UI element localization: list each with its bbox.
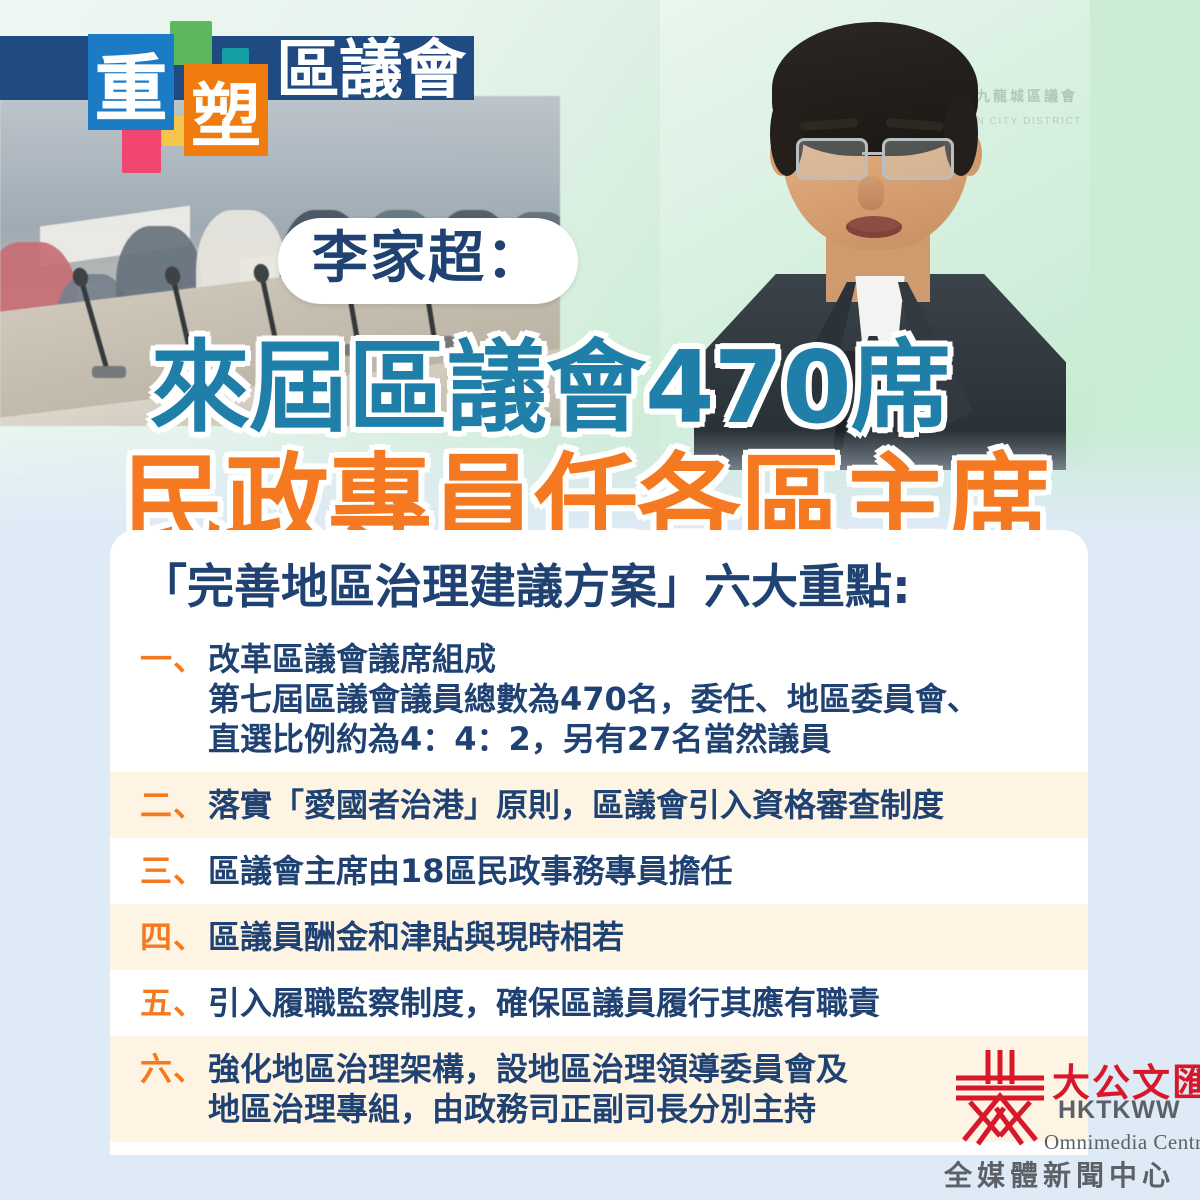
key-point-text: 區議會主席由18區民政事務專員擔任 [208, 851, 733, 891]
key-point-line: 區議會主席由18區民政事務專員擔任 [208, 851, 733, 891]
key-point-text: 落實「愛國者治港」原則，區議會引入資格審查制度 [208, 785, 944, 825]
key-point-line: 強化地區治理架構，設地區治理領導委員會及 [208, 1049, 848, 1089]
key-point-line: 第七屆區議會議員總數為470名，委任、地區委員會、 [208, 679, 979, 719]
key-point-number: 六、 [140, 1049, 206, 1089]
key-point-text: 改革區議會議席組成第七屆區議會議員總數為470名，委任、地區委員會、直選比例約為… [208, 639, 979, 759]
panel-subtitle: 「完善地區治理建議方案」六大重點: [140, 548, 911, 617]
venue-name-cn: 九龍城區議會 [976, 86, 1078, 106]
key-point-row: 三、區議會主席由18區民政事務專員擔任 [110, 838, 1088, 904]
key-point-line: 落實「愛國者治港」原則，區議會引入資格審查制度 [208, 785, 944, 825]
banner-word-su: 塑 [184, 64, 268, 156]
key-point-number: 二、 [140, 785, 206, 825]
key-point-number: 五、 [140, 983, 206, 1023]
logo-english-name: Omnimedia Centre [1044, 1130, 1200, 1155]
key-point-line: 地區治理專組，由政務司正副司長分別主持 [208, 1089, 848, 1129]
key-point-row: 四、區議員酬金和津貼與現時相若 [110, 904, 1088, 970]
publisher-logo: 大公文匯 HKTKWW Omnimedia Centre 全媒體新聞中心 [940, 1038, 1190, 1188]
key-point-row: 二、落實「愛國者治港」原則，區議會引入資格審查制度 [110, 772, 1088, 838]
key-point-number: 一、 [140, 639, 206, 679]
key-point-row: 一、改革區議會議席組成第七屆區議會議員總數為470名，委任、地區委員會、直選比例… [110, 626, 1088, 772]
key-point-number: 三、 [140, 851, 206, 891]
banner-word-chong: 重 [88, 34, 174, 130]
key-point-row: 五、引入履職監察制度，確保區議員履行其應有職責 [110, 970, 1088, 1036]
key-point-line: 直選比例約為4：4：2，另有27名當然議員 [208, 719, 979, 759]
accent-square-green [170, 21, 212, 65]
banner-word-rest: 區議會 [276, 42, 465, 100]
key-point-number: 四、 [140, 917, 206, 957]
hktkww-emblem-icon [948, 1044, 1052, 1148]
key-point-line: 引入履職監察制度，確保區議員履行其應有職責 [208, 983, 880, 1023]
infographic-poster: 九龍城區議會 KOWLOON CITY DISTRICT 重 塑 區議會 李家超… [0, 0, 1200, 1200]
logo-abbreviation: HKTKWW [1058, 1096, 1181, 1125]
key-point-line: 改革區議會議席組成 [208, 639, 979, 679]
key-point-text: 區議員酬金和津貼與現時相若 [208, 917, 624, 957]
speaker-name-pill: 李家超： [278, 218, 578, 304]
key-point-text: 引入履職監察制度，確保區議員履行其應有職責 [208, 983, 880, 1023]
accent-square-pink [122, 128, 161, 173]
logo-chinese-full-name: 全媒體新聞中心 [944, 1154, 1175, 1194]
key-point-text: 強化地區治理架構，設地區治理領導委員會及地區治理專組，由政務司正副司長分別主持 [208, 1049, 848, 1129]
key-point-line: 區議員酬金和津貼與現時相若 [208, 917, 624, 957]
